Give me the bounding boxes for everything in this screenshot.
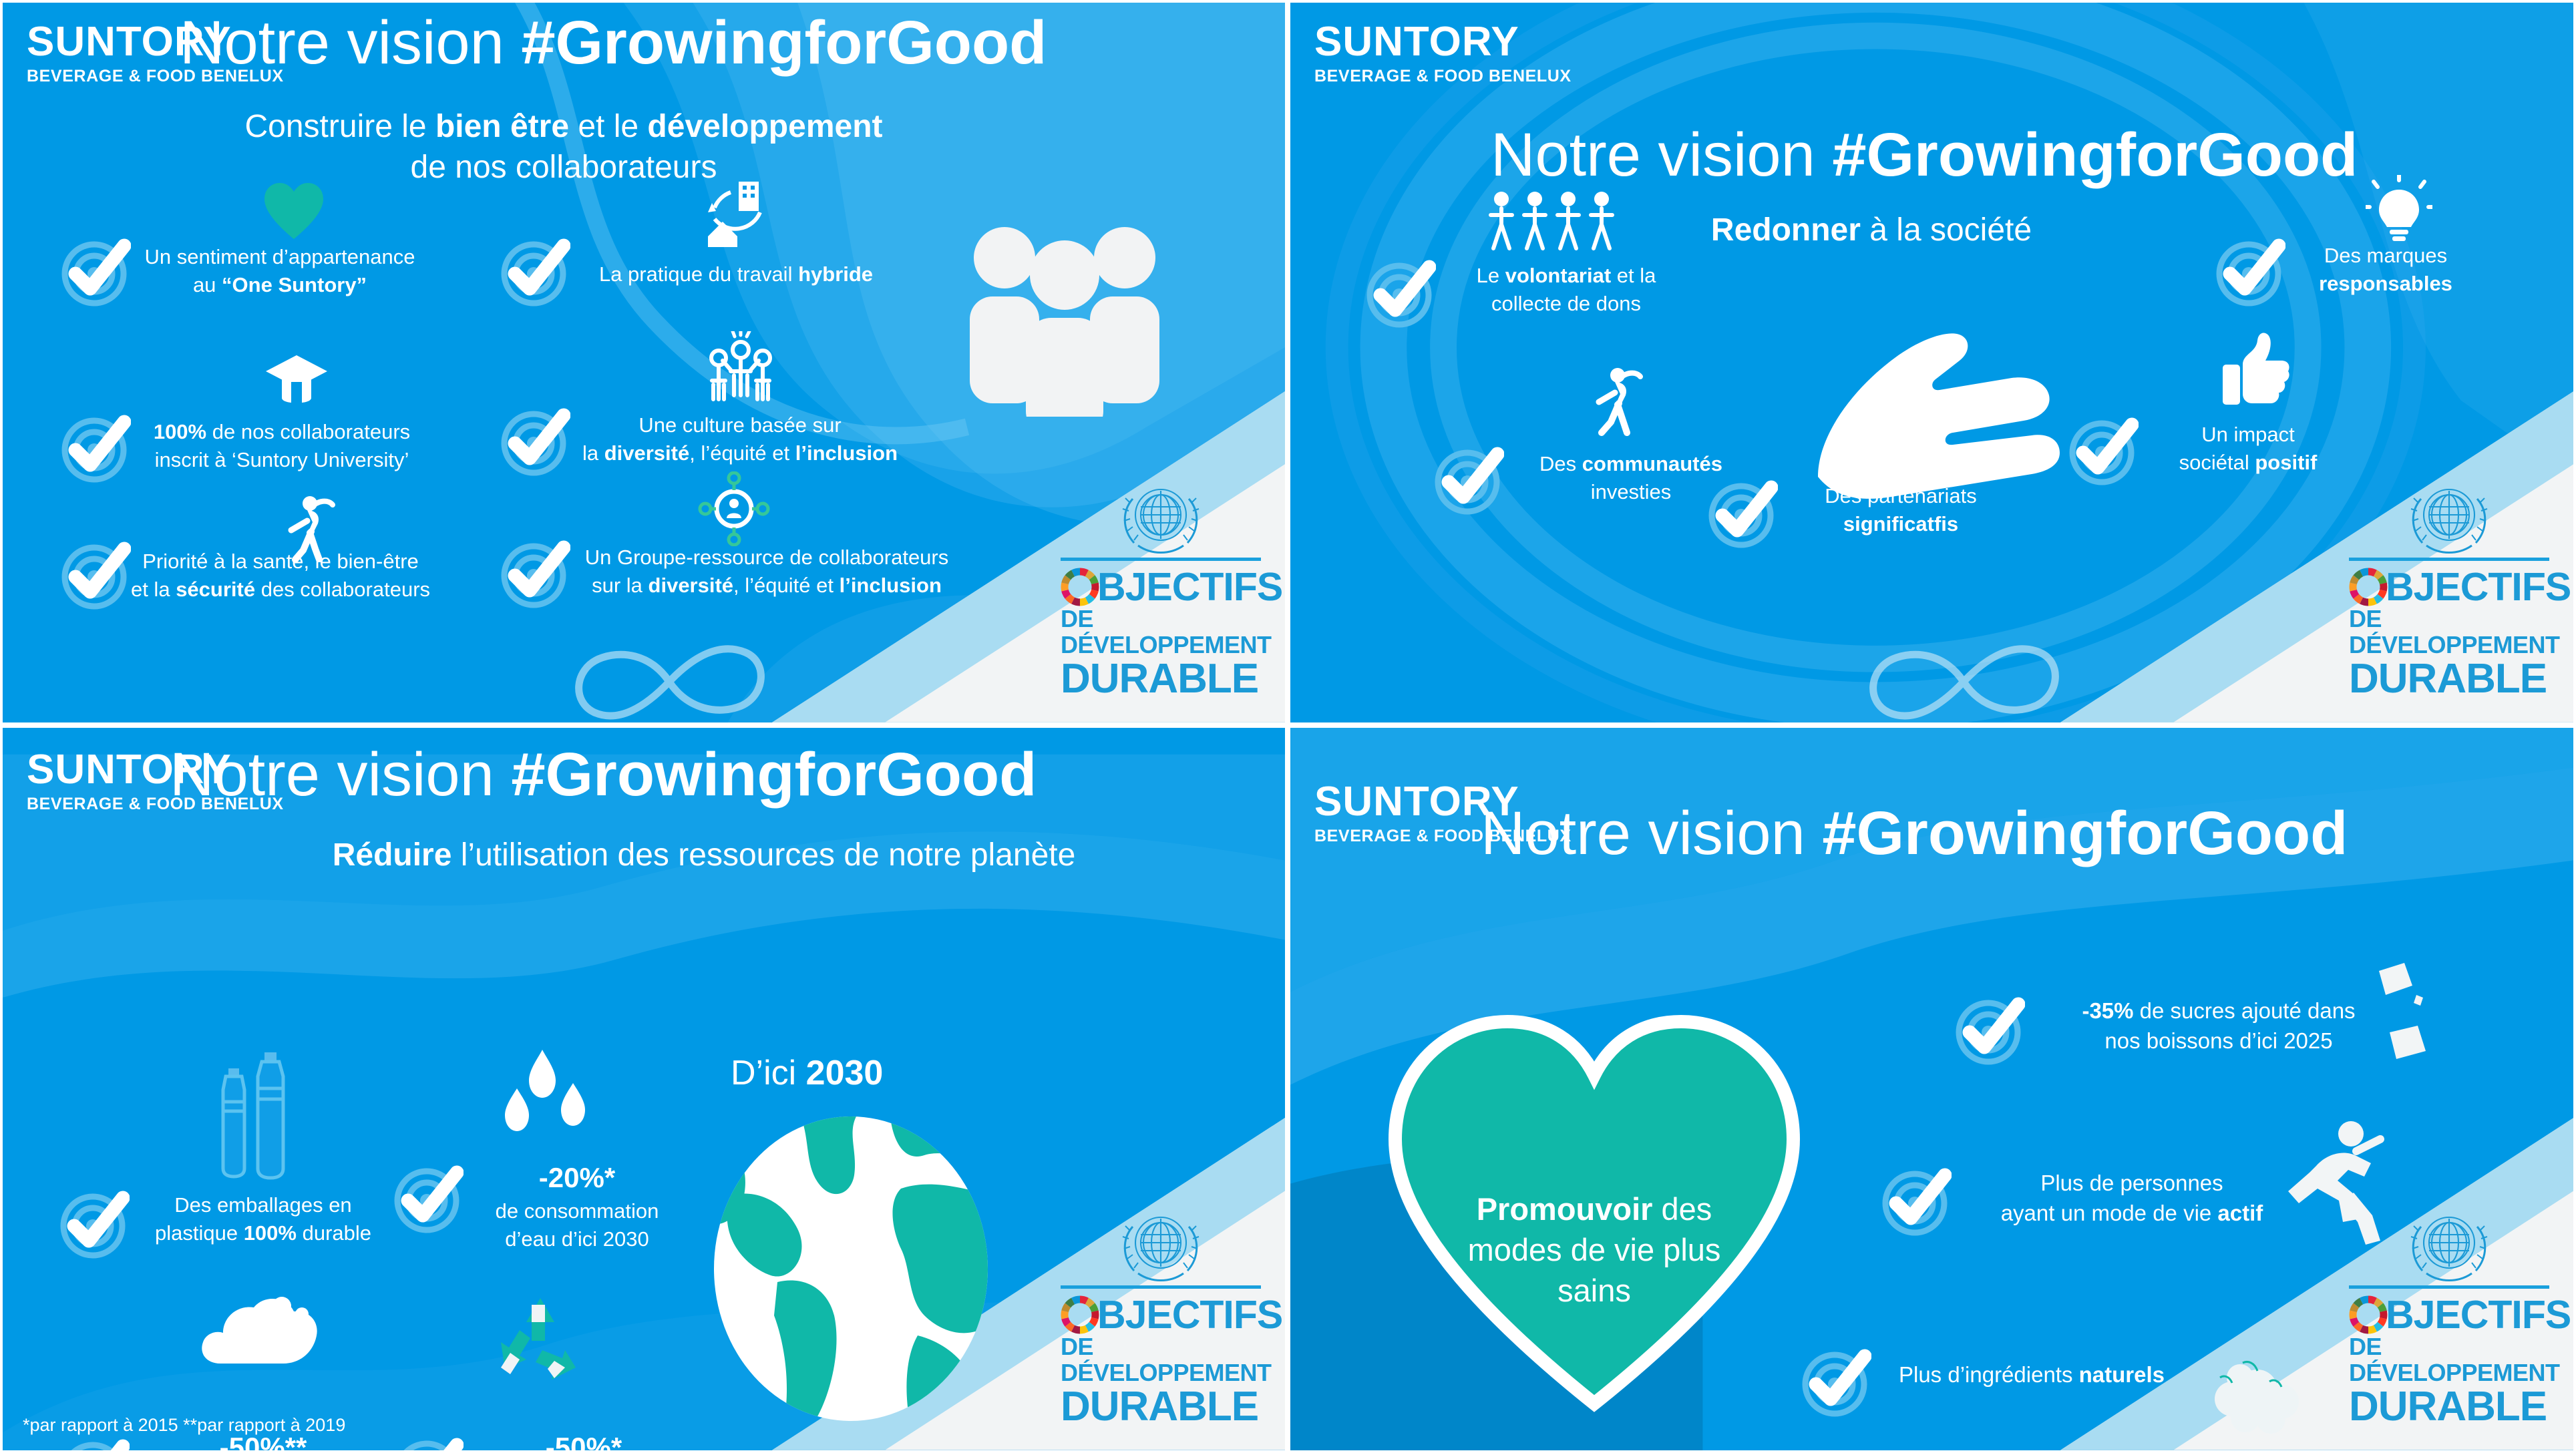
item-sugar-reduction-text: -35% de sucres ajouté dans nos boissons … — [2018, 996, 2419, 1056]
graduation-cap-icon — [264, 351, 329, 411]
heart-message: Promouvoir des modes de vie plus sains — [1437, 1189, 1751, 1311]
text-seg-bold: hybride — [798, 262, 873, 286]
page-subtitle-line1: Construire le bien être et le développem… — [230, 106, 898, 147]
text-seg-bold: volontariat — [1505, 264, 1611, 287]
text-seg: Un sentiment d’appartenance — [145, 245, 415, 268]
text-seg-bold: -35% — [2082, 998, 2133, 1023]
sdg-logo: BJECTIFS DE DÉVELOPPEMENT DURABLE — [2349, 1204, 2549, 1428]
item-responsible-brands-text: Des marques responsables — [2279, 242, 2493, 298]
check-target-icon — [497, 405, 570, 478]
panel-society: SUNTORY BEVERAGE & FOOD BENELUX Notre vi… — [1288, 0, 2576, 725]
panel-healthy-living: SUNTORY BEVERAGE & FOOD BENELUX Notre vi… — [1288, 725, 2576, 1453]
sdg-line3: DURABLE — [2349, 658, 2549, 700]
text-seg-bold: actif — [2217, 1201, 2263, 1225]
text-seg-bold: responsables — [2319, 272, 2452, 295]
text-seg: sociétal — [2179, 451, 2255, 474]
text-seg: la — [582, 441, 604, 465]
text-seg: ayant un mode de vie — [2001, 1201, 2218, 1225]
text-seg: Des partenariats — [1825, 484, 1976, 507]
un-emblem-icon — [2349, 476, 2549, 555]
panel-planet: SUNTORY BEVERAGE & FOOD BENELUX Notre vi… — [0, 725, 1288, 1453]
heart-seg: des — [1652, 1191, 1712, 1227]
sdg-logo: BJECTIFS DE DÉVELOPPEMENT DURABLE — [2349, 476, 2549, 700]
item-active-lifestyle-text: Plus de personnes ayant un mode de vie a… — [1945, 1169, 2319, 1228]
sdg-line1: BJECTIFS — [2349, 1295, 2549, 1334]
text-seg: Des marques — [2324, 244, 2447, 267]
text-seg: au — [193, 273, 222, 296]
text-seg-bold: l’inclusion — [840, 574, 942, 597]
footnote: *par rapport à 2015 **par rapport à 2019 — [23, 1415, 345, 1436]
globe-label-seg: D’ici — [731, 1054, 806, 1092]
check-target-icon — [497, 235, 570, 308]
network-person-icon — [697, 471, 771, 546]
infinity-icon — [1851, 640, 2072, 725]
page-subtitle: Réduire l’utilisation des ressources de … — [170, 835, 1238, 875]
page-title-bold: #GrowingforGood — [1822, 799, 2348, 867]
text-seg: collecte de dons — [1491, 292, 1641, 315]
check-target-icon — [1952, 994, 2025, 1067]
page-title: Notre vision #GrowingforGood — [1491, 123, 2358, 188]
people-chain-icon — [1484, 186, 1618, 259]
text-seg-bold: -20%* — [539, 1162, 615, 1193]
text-seg: et la — [131, 578, 176, 601]
heart-icon — [263, 182, 325, 242]
plastic-bottles-icon — [210, 1042, 303, 1182]
text-seg-bold: 100% — [154, 420, 206, 443]
text-seg: , l’équité et — [689, 441, 795, 465]
sdg-objectifs-text: BJECTIFS — [2386, 568, 2571, 606]
un-emblem-icon — [2349, 1204, 2549, 1283]
subtitle-seg: bien être — [435, 109, 569, 144]
page-title: Notre vision #GrowingforGood — [170, 743, 1037, 807]
sdg-color-wheel-icon — [2349, 568, 2388, 606]
subtitle-seg: Réduire — [333, 837, 452, 873]
check-target-icon — [56, 1436, 130, 1453]
infinity-icon — [557, 640, 777, 725]
sdg-objectifs-text: BJECTIFS — [1097, 568, 1282, 606]
item-food-waste-text: -50%* de déchets alimentaires d’ici 2030 — [457, 1429, 711, 1453]
item-volunteering-text: Le volontariat et la collecte de dons — [1423, 262, 1710, 318]
item-diversity-culture-text: Une culture basée sur la diversité, l’éq… — [566, 411, 914, 467]
subtitle-seg: et le — [569, 109, 647, 144]
check-target-icon — [2212, 235, 2285, 308]
sdg-divider — [2349, 1285, 2549, 1289]
item-suntory-university-text: 100% de nos collaborateurs inscrit à ‘Su… — [115, 418, 449, 474]
text-seg: , l’équité et — [733, 574, 840, 597]
page-title-bold: #GrowingforGood — [511, 741, 1037, 809]
text-seg: Plus d’ingrédients — [1899, 1362, 2079, 1387]
recycling-icon — [490, 1289, 590, 1389]
sdg-line3: DURABLE — [1061, 658, 1261, 700]
heart-seg-bold: Promouvoir — [1477, 1191, 1653, 1227]
check-target-icon — [1431, 443, 1504, 517]
sdg-divider — [1061, 558, 1261, 561]
globe-label-seg-bold: 2030 — [806, 1054, 884, 1092]
text-seg: de consommation — [496, 1199, 659, 1223]
sdg-line1: BJECTIFS — [2349, 568, 2549, 606]
hybrid-work-icon — [697, 178, 771, 250]
berries-icon — [2199, 1351, 2312, 1438]
sdg-line1: BJECTIFS — [1061, 1295, 1261, 1334]
subtitle-seg: développement — [647, 109, 882, 144]
check-target-icon — [497, 537, 570, 610]
text-seg: de nos collaborateurs — [206, 420, 410, 443]
sdg-line1: BJECTIFS — [1061, 568, 1261, 606]
text-seg: Le — [1477, 264, 1505, 287]
heart-seg: modes de vie plus — [1468, 1232, 1721, 1267]
item-sustainable-packaging-text: Des emballages en plastique 100% durable — [123, 1191, 403, 1247]
item-hybrid-work-text: La pratique du travail hybride — [569, 260, 903, 288]
page-title: Notre vision #GrowingforGood — [180, 11, 1047, 75]
text-seg-bold: sécurité — [176, 578, 255, 601]
water-drops-icon — [497, 1035, 604, 1155]
people-celebrate-icon — [704, 331, 777, 406]
subtitle-seg: à la société — [1861, 212, 2032, 248]
page-title-light: Notre vision — [1491, 121, 1832, 189]
text-seg-bold: significatfis — [1843, 512, 1958, 536]
sdg-color-wheel-icon — [1061, 1295, 1099, 1334]
text-seg: Un impact — [2201, 423, 2295, 446]
item-natural-ingredients-text: Plus d’ingrédients naturels — [1865, 1360, 2199, 1390]
page-subtitle: Redonner à la société — [1664, 210, 2078, 250]
check-target-icon — [56, 1187, 130, 1261]
lightbulb-icon — [2366, 175, 2432, 244]
text-seg: Une culture basée sur — [638, 413, 841, 437]
earth-globe-icon — [711, 1115, 991, 1422]
sdg-logo: BJECTIFS DE DÉVELOPPEMENT DURABLE — [1061, 1204, 1261, 1428]
text-seg-bold: naturels — [2079, 1362, 2165, 1387]
sdg-line3: DURABLE — [2349, 1386, 2549, 1428]
sdg-line2: DE DÉVELOPPEMENT — [2349, 606, 2549, 658]
text-seg: sur la — [592, 574, 648, 597]
text-seg-bold: diversité — [649, 574, 734, 597]
item-partnerships-text: Des partenariats significatfis — [1774, 482, 2028, 538]
text-seg: plastique — [155, 1221, 244, 1245]
text-seg-bold: “One Suntory” — [222, 273, 367, 296]
text-seg: La pratique du travail — [599, 262, 798, 286]
text-seg: Des — [1539, 452, 1582, 475]
text-seg-bold: 100% — [244, 1221, 297, 1245]
item-water-reduction-text: -20%* de consommation d’eau d’ici 2030 — [457, 1159, 697, 1253]
globe-label: D’ici 2030 — [731, 1055, 883, 1092]
text-seg-bold: l’inclusion — [795, 441, 898, 465]
sdg-divider — [1061, 1285, 1261, 1289]
stretching-person-icon — [1584, 363, 1643, 437]
page-title-light: Notre vision — [1481, 799, 1822, 867]
sdg-objectifs-text: BJECTIFS — [1097, 1296, 1282, 1333]
item-employee-resource-group-text: Un Groupe-ressource de collaborateurs su… — [566, 544, 967, 600]
un-emblem-icon — [1061, 1204, 1261, 1283]
text-seg: Des emballages en — [174, 1193, 351, 1217]
text-seg: Un Groupe-ressource de collaborateurs — [585, 546, 949, 569]
suntory-logo-subtitle: BEVERAGE & FOOD BENELUX — [1314, 68, 1572, 85]
sdg-logo: BJECTIFS DE DÉVELOPPEMENT DURABLE — [1061, 476, 1261, 700]
text-seg: Plus de personnes — [2040, 1171, 2223, 1195]
sdg-line2: DE DÉVELOPPEMENT — [1061, 1334, 1261, 1386]
check-target-icon — [390, 1434, 464, 1453]
text-seg: inscrit à ‘Suntory University’ — [155, 448, 409, 471]
sdg-divider — [2349, 558, 2549, 561]
subtitle-seg: Redonner — [1711, 212, 1861, 248]
page-title-light: Notre vision — [180, 9, 521, 77]
thumbs-up-icon — [2219, 330, 2292, 417]
cloud-emissions-icon — [196, 1275, 323, 1382]
check-target-icon — [1878, 1165, 1952, 1238]
check-target-icon — [1798, 1345, 1871, 1419]
text-seg-bold: -50%* — [546, 1432, 622, 1453]
text-seg: nos boissons d’ici 2025 — [2104, 1028, 2332, 1053]
sdg-line2: DE DÉVELOPPEMENT — [2349, 1334, 2549, 1386]
sdg-color-wheel-icon — [1061, 568, 1099, 606]
page-subtitle: Construire le bien être et le développem… — [230, 106, 898, 188]
subtitle-seg: l’utilisation des ressources de notre pl… — [451, 837, 1075, 873]
subtitle-seg: Construire le — [245, 109, 435, 144]
page-title-bold: #GrowingforGood — [521, 9, 1047, 77]
item-health-safety-text: Priorité à la santé, le bien-être et la … — [114, 548, 447, 604]
item-positive-impact-text: Un impact sociétal positif — [2135, 421, 2362, 477]
page-title: Notre vision #GrowingforGood — [1481, 801, 2348, 866]
text-seg-bold: communautés — [1582, 452, 1722, 475]
text-seg: Priorité à la santé, le bien-être — [142, 550, 419, 573]
sdg-line3: DURABLE — [1061, 1386, 1261, 1428]
sdg-color-wheel-icon — [2349, 1295, 2388, 1334]
check-target-icon — [1704, 477, 1778, 550]
infographic-grid: SUNTORY BEVERAGE & FOOD BENELUX Notre vi… — [0, 0, 2576, 1453]
text-seg: des collaborateurs — [255, 578, 430, 601]
heart-seg: sains — [1557, 1273, 1631, 1308]
sdg-line2: DE DÉVELOPPEMENT — [1061, 606, 1261, 658]
text-seg-bold: positif — [2255, 451, 2317, 474]
text-seg: d’eau d’ici 2030 — [505, 1227, 649, 1251]
suntory-logo: SUNTORY BEVERAGE & FOOD BENELUX — [1314, 21, 1572, 85]
page-title-light: Notre vision — [170, 741, 511, 809]
text-seg: de sucres ajouté dans — [2134, 998, 2356, 1023]
people-celebrate-icon — [1851, 397, 1925, 477]
sdg-objectifs-text: BJECTIFS — [2386, 1296, 2571, 1333]
text-seg-bold: diversité — [604, 441, 690, 465]
text-seg: et la — [1611, 264, 1656, 287]
text-seg: investies — [1591, 480, 1672, 503]
check-target-icon — [2065, 414, 2139, 487]
panel-employees: SUNTORY BEVERAGE & FOOD BENELUX Notre vi… — [0, 0, 1288, 725]
un-emblem-icon — [1061, 476, 1261, 555]
page-subtitle-line2: de nos collaborateurs — [230, 147, 898, 188]
page-title-bold: #GrowingforGood — [1832, 121, 2358, 189]
item-belonging-text: Un sentiment d’appartenance au “One Sunt… — [116, 243, 443, 299]
three-people-group-icon — [964, 216, 1165, 417]
text-seg: durable — [297, 1221, 371, 1245]
check-target-icon — [390, 1162, 464, 1235]
suntory-logo-word: SUNTORY — [1314, 21, 1572, 63]
